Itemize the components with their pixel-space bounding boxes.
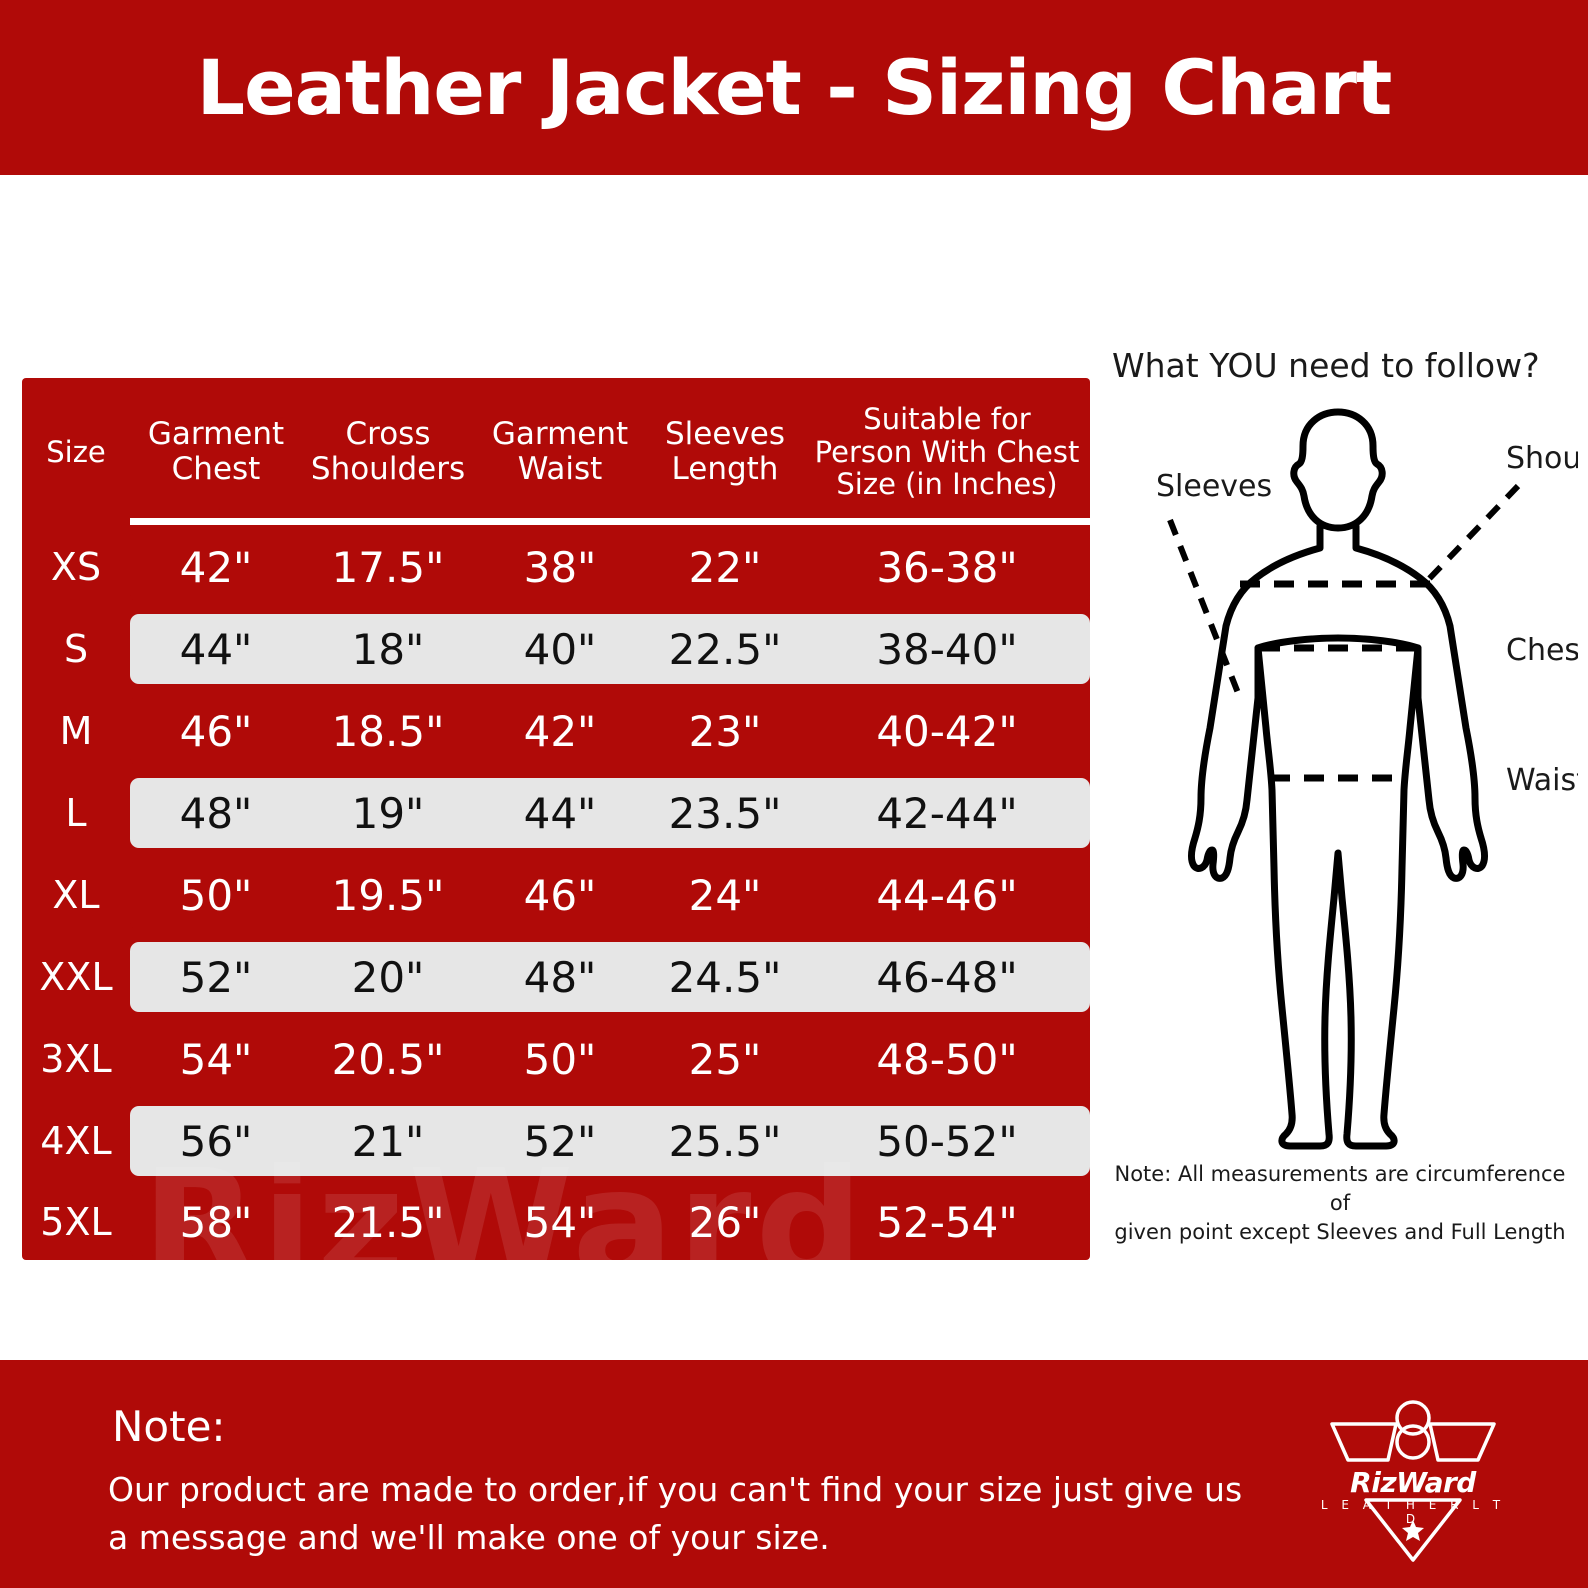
table-row: 44" (130, 608, 302, 690)
table-row: 50-52" (804, 1100, 1090, 1182)
footer-note-heading: Note: (112, 1402, 226, 1451)
table-row: 20" (302, 936, 474, 1018)
brand-logo: RizWard L E A T H E R L T D (1318, 1382, 1508, 1568)
table-row: 52-54" (804, 1182, 1090, 1262)
label-sleeves: Sleeves (1156, 469, 1272, 504)
table-row: 21.5" (302, 1182, 474, 1262)
label-chest: Chest (1506, 633, 1578, 668)
table-row: M (22, 690, 130, 772)
table-row: 19" (302, 772, 474, 854)
column-header-suitable: Suitable for Person With Chest Size (in … (804, 378, 1090, 526)
table-row: 20.5" (302, 1018, 474, 1100)
table-row: 3XL (22, 1018, 130, 1100)
table-row: 5XL (22, 1182, 130, 1262)
table-row: 54" (130, 1018, 302, 1100)
column-header-sleeves: Sleeves Length (646, 378, 804, 526)
column-header-size: Size (22, 378, 130, 526)
table-row: 40-42" (804, 690, 1090, 772)
column-header-shoulders: Cross Shoulders (302, 378, 474, 526)
table-row: 52" (474, 1100, 646, 1182)
table-row: 44" (474, 772, 646, 854)
table-row: 23" (646, 690, 804, 772)
table-row: 44-46" (804, 854, 1090, 936)
table-row: L (22, 772, 130, 854)
table-row: 40" (474, 608, 646, 690)
table-row: 46" (474, 854, 646, 936)
table-row: 42" (474, 690, 646, 772)
column-header-waist: Garment Waist (474, 378, 646, 526)
table-row: 24" (646, 854, 804, 936)
table-row: 46" (130, 690, 302, 772)
footer-note-line-2: a message and we'll make one of your siz… (108, 1518, 830, 1557)
sizing-chart-page: Leather Jacket - Sizing Chart RizWard Si… (0, 0, 1588, 1588)
label-waist: Waist (1506, 763, 1578, 798)
logo-name: RizWard (1318, 1466, 1508, 1499)
table-row: 48-50" (804, 1018, 1090, 1100)
table-row: 38-40" (804, 608, 1090, 690)
table-row: 26" (646, 1182, 804, 1262)
table-row: XS (22, 526, 130, 608)
table-row: 50" (474, 1018, 646, 1100)
logo-subtitle: L E A T H E R L T D (1318, 1498, 1508, 1526)
top-banner: Leather Jacket - Sizing Chart (0, 0, 1588, 175)
figure-note-line-2: given point except Sleeves and Full Leng… (1106, 1218, 1574, 1247)
table-grid: Size Garment Chest Cross Shoulders Garme… (22, 378, 1090, 1260)
label-shoulder: Shoulder (1506, 441, 1578, 476)
table-row: XL (22, 854, 130, 936)
table-row: 48" (474, 936, 646, 1018)
table-row: 36-38" (804, 526, 1090, 608)
table-row: 56" (130, 1100, 302, 1182)
body-measurement-diagram: Sleeves Shoulder Chest Waist (1098, 398, 1578, 1158)
size-table: RizWard Size Garment Chest Cross Shoulde… (22, 378, 1090, 1260)
table-row: 48" (130, 772, 302, 854)
table-row: 18" (302, 608, 474, 690)
table-row: 23.5" (646, 772, 804, 854)
table-row: 50" (130, 854, 302, 936)
table-row: 21" (302, 1100, 474, 1182)
table-row: 54" (474, 1182, 646, 1262)
figure-note-line-1: Note: All measurements are circumference… (1106, 1160, 1574, 1218)
table-row: 38" (474, 526, 646, 608)
table-row: 25" (646, 1018, 804, 1100)
table-row: 22" (646, 526, 804, 608)
table-row: 18.5" (302, 690, 474, 772)
table-row: 4XL (22, 1100, 130, 1182)
table-row: 52" (130, 936, 302, 1018)
table-row: 25.5" (646, 1100, 804, 1182)
table-row: 17.5" (302, 526, 474, 608)
table-row: S (22, 608, 130, 690)
table-row: 42" (130, 526, 302, 608)
column-header-chest: Garment Chest (130, 378, 302, 526)
measurement-guide-panel: What YOU need to follow? (1098, 340, 1578, 1270)
table-row: 42-44" (804, 772, 1090, 854)
figure-note: Note: All measurements are circumference… (1106, 1160, 1574, 1247)
table-row: 46-48" (804, 936, 1090, 1018)
figure-title: What YOU need to follow? (1112, 346, 1540, 385)
footer-note-line-1: Our product are made to order,if you can… (108, 1470, 1242, 1509)
table-row: 58" (130, 1182, 302, 1262)
page-title: Leather Jacket - Sizing Chart (197, 43, 1392, 132)
table-row: 24.5" (646, 936, 804, 1018)
table-row: 22.5" (646, 608, 804, 690)
table-row: 19.5" (302, 854, 474, 936)
table-row: XXL (22, 936, 130, 1018)
